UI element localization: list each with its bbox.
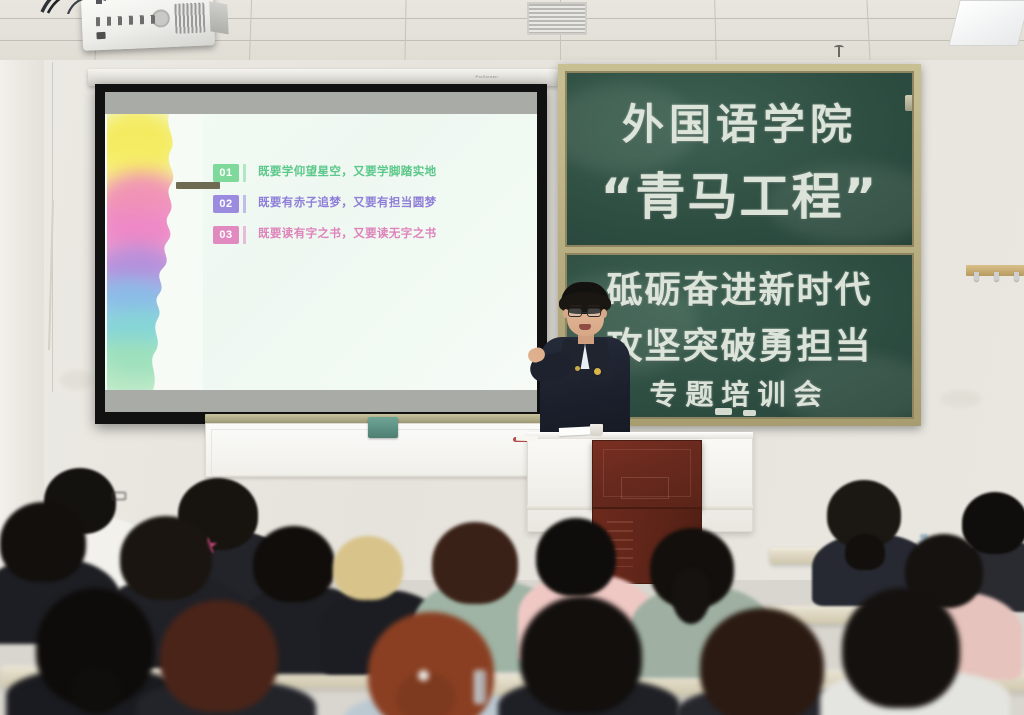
ceiling-hook-icon — [834, 45, 844, 57]
presenter-eyebrow — [570, 305, 582, 307]
ceiling-light-right — [948, 0, 1024, 46]
slide-bullet-list: 01 既要学仰望星空，又要学脚踏实地 02 既要有赤子追梦，又要有担当圆梦 03… — [213, 164, 533, 257]
presenter-eyebrow — [588, 305, 600, 307]
blackboard-heading-line2: “青马工程” — [567, 157, 912, 229]
presenter-badge-pin-secondary — [575, 366, 580, 371]
student-head — [432, 522, 518, 604]
presenter-ear — [601, 309, 607, 318]
blackboard-hook-icon — [905, 95, 914, 111]
projector-ports — [96, 15, 158, 27]
bullet-text: 既要学仰望星空，又要学脚踏实地 — [258, 164, 437, 179]
watercolor-face-graphic — [107, 114, 203, 390]
glasses-icon — [568, 308, 582, 317]
bullet-text: 既要读有字之书，又要读无字之书 — [258, 226, 437, 241]
coat-hook-icon[interactable] — [994, 272, 999, 281]
bullet-divider — [243, 195, 246, 213]
blackboard-panel-clip — [176, 182, 220, 189]
chalk-piece[interactable] — [715, 408, 732, 415]
student-head — [700, 608, 824, 715]
water-bottle[interactable] — [474, 670, 486, 704]
presenter-badge-pin — [594, 368, 601, 375]
glasses-icon — [112, 492, 126, 500]
projector-power-port — [96, 32, 105, 39]
slide-bullet-row: 01 既要学仰望星空，又要学脚踏实地 — [213, 164, 533, 182]
blackboard-heading-line1: 外国语学院 — [567, 91, 912, 152]
projector-cables — [38, 0, 134, 14]
chalk-piece[interactable] — [743, 410, 756, 416]
student-head — [520, 596, 642, 714]
slide-bottom-band — [105, 390, 537, 412]
student-head — [253, 526, 335, 602]
student-head — [160, 600, 278, 712]
bullet-divider — [243, 226, 246, 244]
hair-tie-icon — [418, 670, 429, 681]
screen-brand-label: ProScreen — [476, 74, 499, 79]
student-ponytail — [672, 568, 710, 624]
projection-screen: 01 既要学仰望星空，又要学脚踏实地 02 既要有赤子追梦，又要有担当圆梦 03… — [95, 84, 547, 424]
student-head — [0, 502, 86, 582]
presenter — [534, 282, 634, 442]
glasses-bridge — [581, 312, 587, 313]
coat-hook-icon[interactable] — [974, 272, 979, 281]
slide-top-band — [105, 92, 537, 114]
student-head — [536, 518, 616, 596]
student-head-blonde — [333, 536, 403, 600]
slide-bullet-row: 03 既要读有字之书，又要读无字之书 — [213, 226, 533, 244]
presenter-mouth — [579, 324, 591, 330]
air-vent-icon — [527, 2, 587, 35]
wall-smudge — [60, 370, 94, 390]
wall-coat-rack[interactable] — [966, 265, 1024, 276]
bullet-divider — [243, 164, 246, 182]
glasses-icon — [587, 308, 601, 317]
blackboard-top-panel[interactable]: 外国语学院 “青马工程” — [565, 71, 914, 247]
student-ponytail — [70, 666, 122, 714]
seated-students — [0, 430, 1024, 715]
bullet-number-badge: 02 — [213, 195, 239, 213]
classroom-scene: ProScreen — [0, 0, 1024, 715]
coat-hook-icon[interactable] — [1014, 272, 1019, 281]
bullet-number-badge: 01 — [213, 164, 239, 182]
bullet-text: 既要有赤子追梦，又要有担当圆梦 — [258, 195, 437, 210]
student-ponytail — [845, 534, 885, 570]
bullet-number-badge: 03 — [213, 226, 239, 244]
projector-vent-grill — [174, 3, 205, 34]
presentation-slide: 01 既要学仰望星空，又要学脚踏实地 02 既要有赤子追梦，又要有担当圆梦 03… — [105, 114, 537, 390]
slide-bullet-row: 02 既要有赤子追梦，又要有担当圆梦 — [213, 195, 533, 213]
wall-smudge — [940, 390, 982, 408]
student-head — [842, 588, 960, 708]
student-head — [120, 516, 212, 600]
screen-surface: 01 既要学仰望星空，又要学脚踏实地 02 既要有赤子追梦，又要有担当圆梦 03… — [105, 92, 537, 412]
projector-side-panel — [209, 1, 228, 34]
